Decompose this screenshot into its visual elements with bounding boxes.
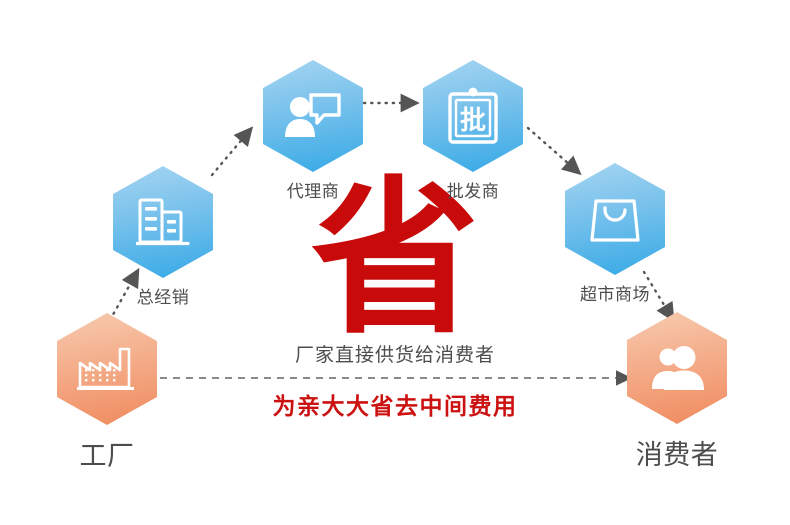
hexagon-supermarket — [565, 163, 665, 275]
node-label-agent: 代理商 — [258, 177, 368, 202]
hexagon-agent — [263, 60, 363, 172]
node-consumer[interactable]: 消费者 — [622, 312, 732, 472]
hexagon-consumer — [627, 312, 727, 424]
node-factory[interactable]: 工厂 — [52, 313, 162, 473]
clipboard-char: 批 — [460, 106, 486, 136]
node-agent[interactable]: 代理商 — [258, 60, 368, 202]
factory-icon — [57, 313, 157, 425]
shopping-bag-icon — [565, 163, 665, 275]
node-label-factory: 工厂 — [52, 434, 162, 473]
two-people-icon — [627, 312, 727, 424]
node-label-wholesaler: 批发商 — [418, 177, 528, 202]
node-label-supermarket: 超市商场 — [560, 280, 670, 305]
person-chat-icon — [263, 60, 363, 172]
clipboard-pi-icon: 批 — [423, 60, 523, 172]
hexagon-wholesaler: 批 — [423, 60, 523, 172]
node-distributor[interactable]: 总经销 — [108, 166, 218, 308]
hexagon-distributor — [113, 166, 213, 278]
office-building-icon — [113, 166, 213, 278]
node-wholesaler[interactable]: 批 批发商 — [418, 60, 528, 202]
diagram-canvas: 省 厂家直接供货给消费者 为亲大大省去中间费用 — [0, 0, 790, 525]
node-supermarket[interactable]: 超市商场 — [560, 163, 670, 305]
hexagon-factory — [57, 313, 157, 425]
node-label-consumer: 消费者 — [622, 433, 732, 472]
node-label-distributor: 总经销 — [108, 283, 218, 308]
